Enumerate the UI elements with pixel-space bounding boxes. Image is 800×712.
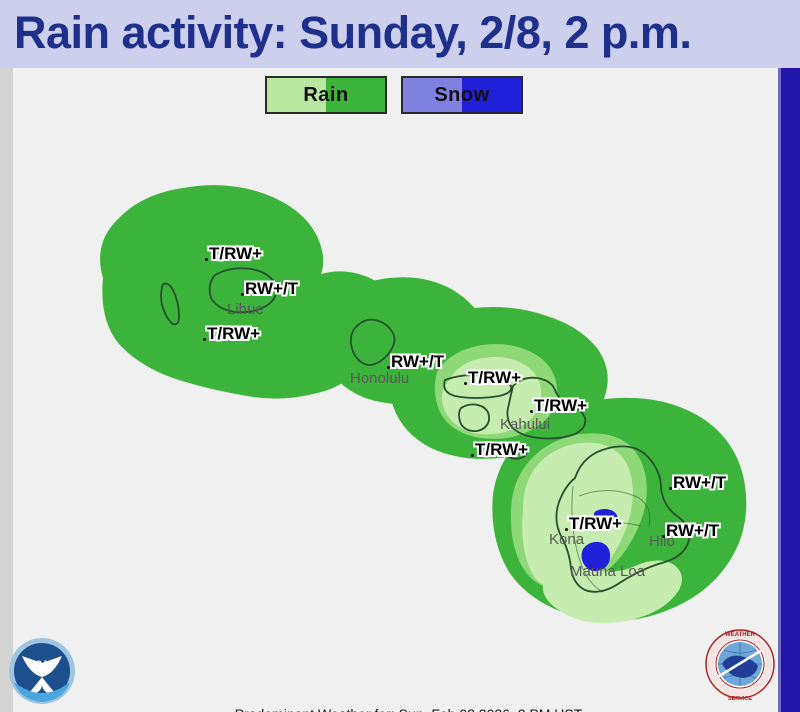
svg-text:SERVICE: SERVICE	[728, 696, 752, 702]
weather-label-dot	[464, 382, 467, 385]
map-panel: Rain Snow	[13, 68, 778, 712]
weather-label: T/RW+	[468, 368, 521, 388]
legend-snow-label: Snow	[434, 84, 489, 107]
weather-label-dot	[662, 535, 665, 538]
weather-label: T/RW+	[534, 396, 587, 416]
footer-valid-time: Predominant Weather for: Sun, Feb 08 202…	[26, 706, 778, 712]
legend-rain-label: Rain	[303, 84, 348, 107]
weather-label: T/RW+	[209, 244, 262, 264]
weather-label-dot	[205, 258, 208, 261]
weather-label-dot	[530, 410, 533, 413]
weather-label-dot	[565, 528, 568, 531]
city-label: Honolulu	[350, 370, 409, 387]
right-edge-stripe-highlight	[778, 68, 781, 712]
right-edge-stripe	[778, 68, 800, 712]
weather-label: RW+/T	[666, 521, 719, 541]
weather-map-screenshot: Rain activity: Sunday, 2/8, 2 p.m. Rain …	[0, 0, 800, 712]
weather-label-dot	[669, 487, 672, 490]
legend-item-rain[interactable]: Rain	[265, 76, 387, 114]
legend-item-snow[interactable]: Snow	[401, 76, 523, 114]
rain-strong-areas	[100, 185, 746, 621]
svg-text:WEATHER: WEATHER	[725, 632, 756, 638]
page-title: Rain activity: Sunday, 2/8, 2 p.m.	[14, 2, 800, 64]
weather-label-dot	[203, 338, 206, 341]
weather-label: T/RW+	[475, 440, 528, 460]
weather-label: RW+/T	[673, 473, 726, 493]
weather-label-dot	[471, 454, 474, 457]
weather-label: T/RW+	[569, 514, 622, 534]
noaa-logo: NOAA	[4, 634, 80, 708]
weather-label-dot	[241, 293, 244, 296]
footer: Predominant Weather for: Sun, Feb 08 202…	[26, 688, 778, 712]
left-gutter	[0, 68, 13, 712]
weather-label: RW+/T	[245, 279, 298, 299]
city-label: Kahului	[500, 416, 550, 433]
nws-logo: WEATHER SERVICE	[700, 622, 780, 706]
city-label: Mauna Loa	[570, 563, 645, 580]
weather-label-dot	[387, 366, 390, 369]
legend: Rain Snow	[265, 73, 535, 117]
header-band: Rain activity: Sunday, 2/8, 2 p.m.	[0, 0, 800, 68]
weather-label: T/RW+	[207, 324, 260, 344]
city-label: Lihue	[227, 301, 264, 318]
weather-label: RW+/T	[391, 352, 444, 372]
noaa-logo-text: NOAA	[29, 659, 56, 669]
